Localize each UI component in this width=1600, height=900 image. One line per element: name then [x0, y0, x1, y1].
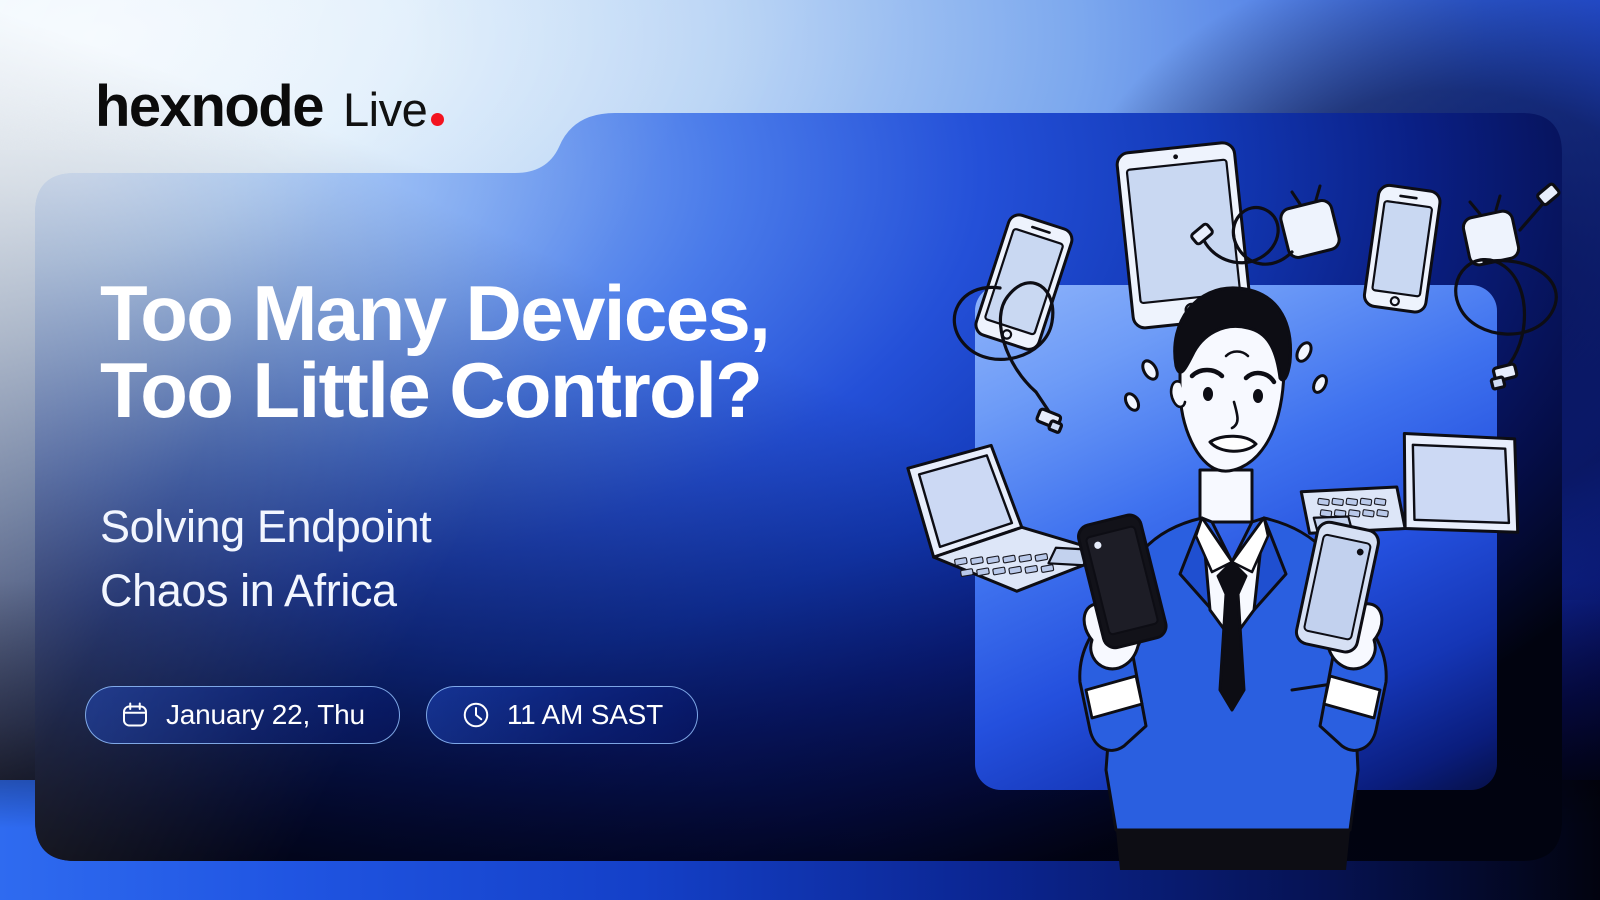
page-title: Too Many Devices, Too Little Control? — [100, 275, 769, 429]
brand-product-label: Live — [343, 86, 427, 133]
charger-adapter-right — [1462, 196, 1521, 267]
hero-illustration — [880, 170, 1580, 830]
clock-icon — [461, 700, 491, 730]
time-pill-label: 11 AM SAST — [507, 699, 663, 731]
time-pill[interactable]: 11 AM SAST — [426, 686, 698, 744]
date-pill[interactable]: January 22, Thu — [85, 686, 400, 744]
calendar-icon — [120, 700, 150, 730]
brand-logo[interactable]: hexnode Live — [95, 78, 444, 136]
event-meta: January 22, Thu 11 AM SAST — [85, 686, 698, 744]
phone-top-right — [1363, 184, 1441, 313]
brand-name: hexnode — [95, 78, 323, 136]
promo-banner: hexnode Live Too Many Devices, Too Littl… — [0, 0, 1600, 900]
date-pill-label: January 22, Thu — [166, 699, 365, 731]
brand-product: Live — [343, 86, 444, 133]
stressed-businessman-with-devices-svg — [880, 170, 1580, 830]
brand-dot-icon — [431, 113, 444, 126]
laptop-left — [906, 428, 1115, 606]
page-subtitle: Solving Endpoint Chaos in Africa — [100, 495, 431, 623]
phone-top-left — [973, 212, 1075, 352]
